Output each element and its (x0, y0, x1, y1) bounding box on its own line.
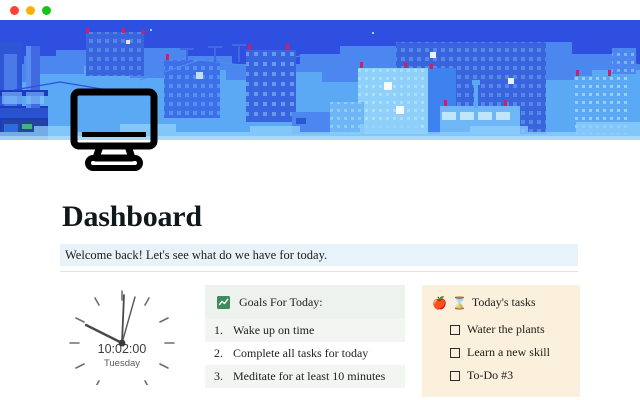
task-item[interactable]: To-Do #3 (432, 364, 580, 387)
goals-panel-title: Goals For Today: (239, 295, 323, 310)
hourglass-icon: ⌛ (452, 297, 467, 309)
task-item[interactable]: Water the plants (432, 318, 580, 341)
list-item[interactable]: 1. Wake up on time (205, 319, 405, 342)
window-titlebar (0, 0, 640, 20)
close-button[interactable] (10, 6, 19, 15)
goal-number: 2. (214, 346, 226, 361)
clock-widget: 10:02:00 Tuesday (62, 285, 182, 397)
goals-panel: Goals For Today: 1. Wake up on time 2. C… (205, 285, 405, 388)
minimize-button[interactable] (26, 6, 35, 15)
task-checkbox[interactable] (450, 325, 460, 335)
task-label: Water the plants (467, 322, 545, 337)
page-content: Dashboard Welcome back! Let's see what d… (0, 140, 640, 400)
list-item[interactable]: 3. Meditate for at least 10 minutes (205, 365, 405, 388)
goal-text: Complete all tasks for today (233, 346, 368, 361)
task-checkbox[interactable] (450, 371, 460, 381)
widgets-row: 10:02:00 Tuesday Goals For Today: 1. Wak… (0, 285, 640, 400)
goal-number: 3. (214, 369, 226, 384)
desktop-monitor-icon (70, 88, 158, 172)
welcome-message: Welcome back! Let's see what do we have … (65, 248, 327, 263)
clock-day: Tuesday (62, 358, 182, 369)
section-divider (60, 271, 578, 272)
task-item[interactable]: Learn a new skill (432, 341, 580, 364)
goals-list: 1. Wake up on time 2. Complete all tasks… (205, 319, 405, 388)
page-title: Dashboard (62, 200, 202, 234)
goal-text: Wake up on time (233, 323, 314, 338)
task-label: Learn a new skill (467, 345, 550, 360)
task-label: To-Do #3 (467, 368, 513, 383)
tasks-panel-title: Today's tasks (472, 295, 536, 310)
goals-panel-header: Goals For Today: (205, 285, 405, 319)
goal-text: Meditate for at least 10 minutes (233, 369, 385, 384)
welcome-banner: Welcome back! Let's see what do we have … (60, 244, 578, 266)
line-chart-icon (217, 296, 230, 309)
clock-face (62, 285, 182, 385)
task-checkbox[interactable] (450, 348, 460, 358)
goal-number: 1. (214, 323, 226, 338)
clock-time: 10:02:00 (62, 342, 182, 356)
maximize-button[interactable] (42, 6, 51, 15)
apple-icon: 🍎 (432, 297, 447, 309)
tasks-panel-header: 🍎 ⌛ Today's tasks (432, 295, 580, 310)
tasks-panel: 🍎 ⌛ Today's tasks Water the plants Learn… (422, 285, 580, 397)
list-item[interactable]: 2. Complete all tasks for today (205, 342, 405, 365)
